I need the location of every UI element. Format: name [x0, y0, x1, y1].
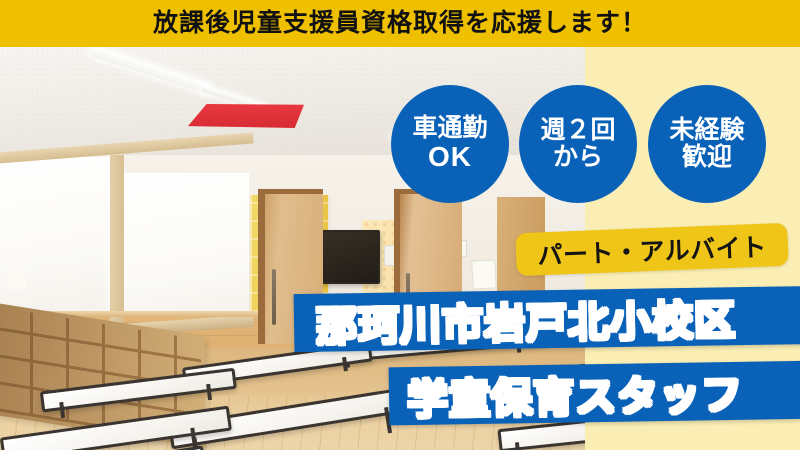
wall-paper-note	[471, 259, 496, 289]
window-frame	[110, 155, 124, 337]
badge-experience-line1: 未経験	[669, 117, 744, 144]
employment-type-label: パート・アルバイト	[537, 227, 767, 272]
badge-frequency-line2: から	[553, 144, 603, 171]
badge-car-commute-line1: 車通勤	[412, 115, 487, 142]
job-area-text: 那珂川市岩戸北小校区	[316, 286, 737, 353]
badge-frequency: 週２回 から	[519, 85, 637, 203]
badge-experience-line2: 歓迎	[682, 144, 732, 171]
job-role-text: 学童保育スタッフ	[407, 361, 744, 426]
door-handle	[272, 269, 276, 325]
badge-car-commute: 車通勤 OK	[391, 85, 509, 203]
badge-frequency-line1: 週２回	[540, 117, 615, 144]
headline-banner: 放課後児童支援員資格取得を応援します！	[0, 0, 800, 47]
job-area-bar: 那珂川市岩戸北小校区	[294, 286, 800, 352]
job-role-bar: 学童保育スタッフ	[389, 361, 800, 426]
badge-experience: 未経験 歓迎	[648, 85, 766, 203]
wall-paper-note	[8, 265, 26, 289]
badge-car-commute-line2: OK	[428, 142, 472, 172]
headline-text: 放課後児童支援員資格取得を応援します！	[153, 11, 647, 36]
job-ad-banner: 放課後児童支援員資格取得を応援します！ 車通勤 OK 週２回 から 未経験 歓迎…	[0, 0, 800, 450]
